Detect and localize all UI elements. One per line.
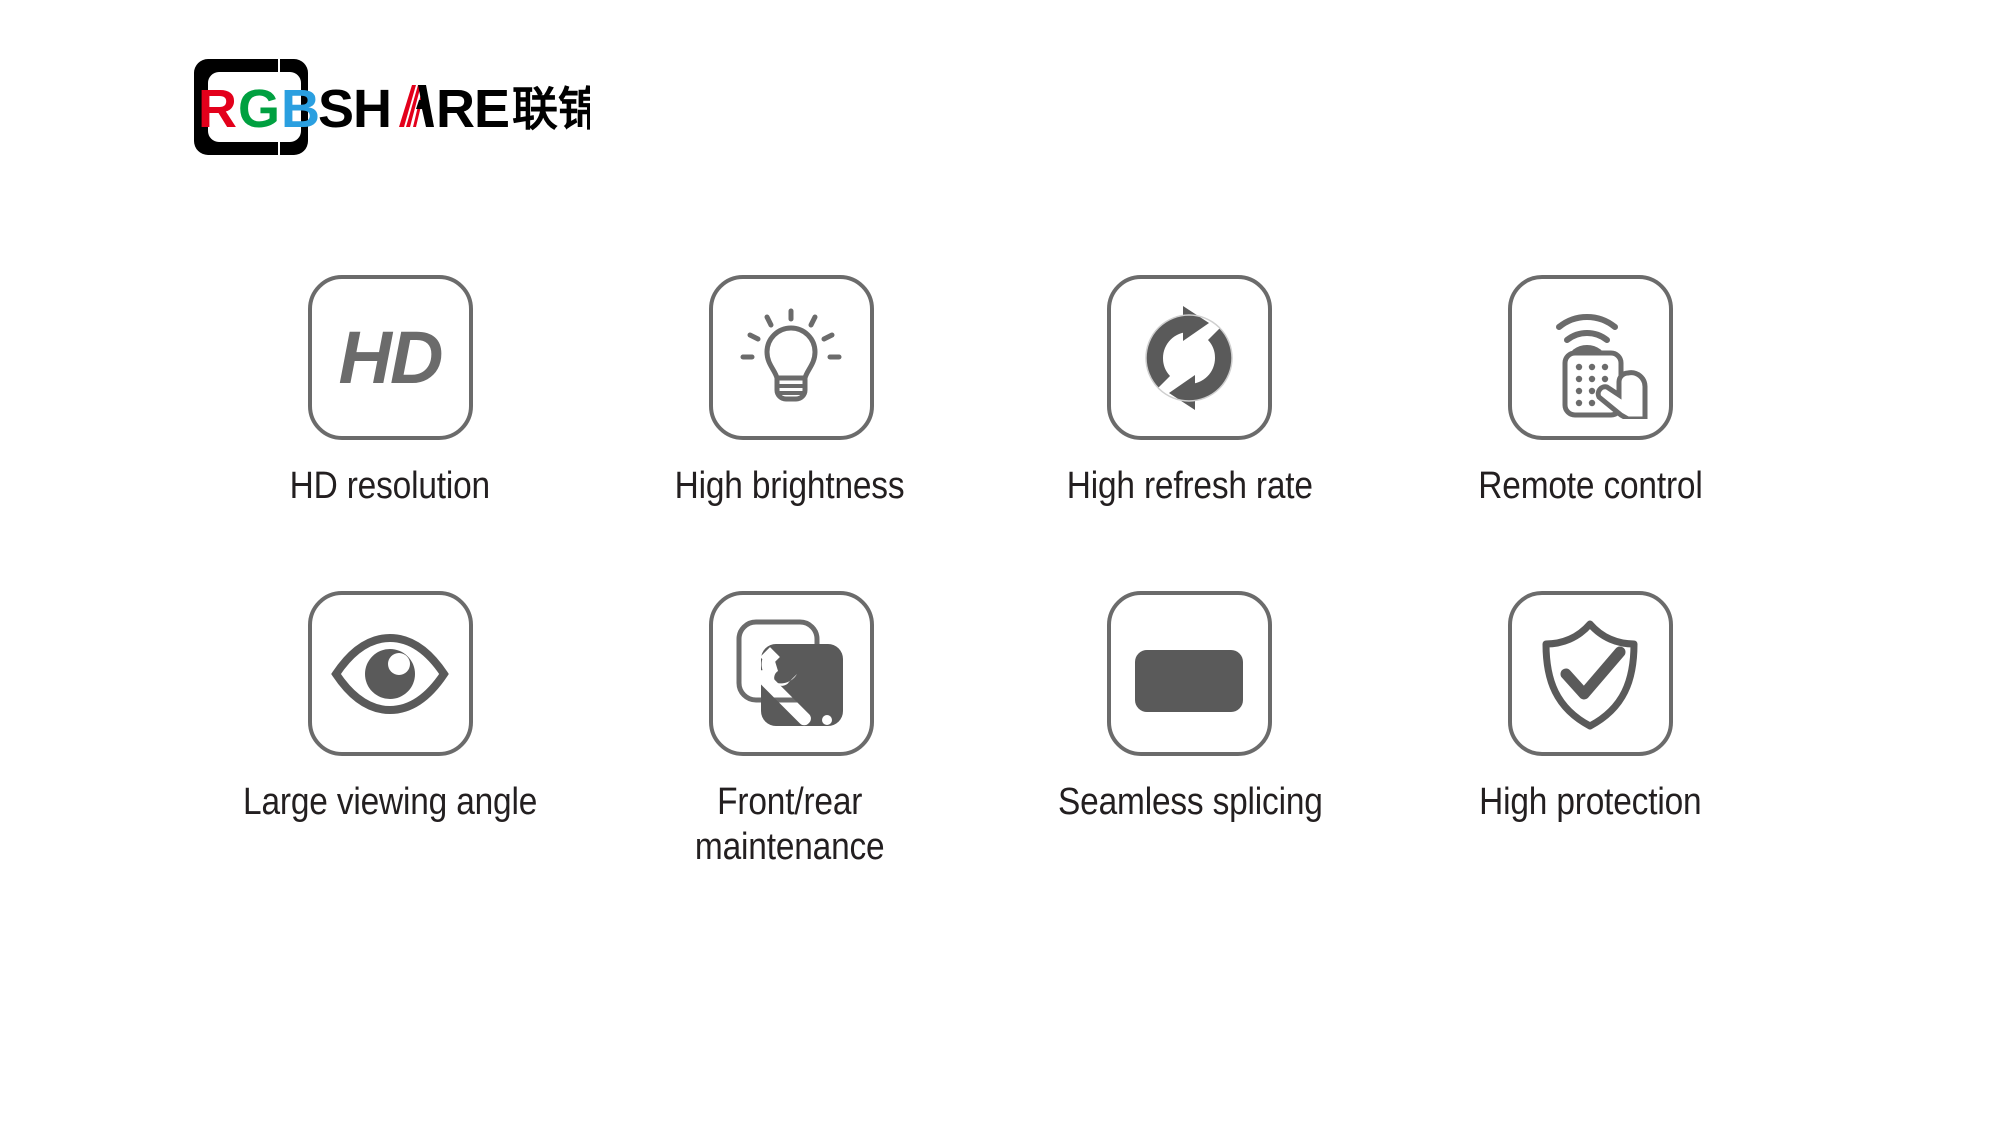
lightbulb-icon — [709, 275, 874, 440]
hd-icon-text: HD — [339, 321, 442, 395]
remote-control-icon — [1508, 275, 1673, 440]
logo-share-text: SH RE — [318, 79, 509, 139]
feature-item-seamless-splicing[interactable]: Seamless splicing — [990, 591, 1390, 870]
svg-text:R: R — [198, 79, 236, 139]
feature-item-remote-control[interactable]: Remote control — [1390, 275, 1790, 509]
brand-logo: R G B SH RE 联锦 — [190, 55, 590, 160]
feature-row: Large viewing angle — [190, 591, 1810, 870]
svg-text:RE: RE — [436, 79, 509, 139]
feature-label: High refresh rate — [1067, 464, 1313, 509]
svg-text:B: B — [281, 79, 319, 139]
hd-icon: HD — [308, 275, 473, 440]
refresh-icon — [1107, 275, 1272, 440]
feature-item-hd-resolution[interactable]: HD HD resolution — [190, 275, 590, 509]
feature-item-front-rear-maintenance[interactable]: Front/rear maintenance — [590, 591, 990, 870]
feature-label: Front/rear maintenance — [695, 780, 885, 870]
feature-label: High protection — [1479, 780, 1701, 825]
feature-item-high-refresh-rate[interactable]: High refresh rate — [990, 275, 1390, 509]
feature-grid: HD HD resolution — [190, 275, 1810, 870]
svg-text:G: G — [238, 79, 279, 139]
logo-rgb-text: R G B — [198, 79, 319, 139]
feature-label: High brightness — [675, 464, 905, 509]
wrench-panels-icon — [709, 591, 874, 756]
shield-check-icon — [1508, 591, 1673, 756]
logo-chinese-text: 联锦 — [512, 82, 590, 136]
feature-item-large-viewing-angle[interactable]: Large viewing angle — [190, 591, 590, 870]
svg-text:SH: SH — [318, 79, 391, 139]
feature-label: Remote control — [1478, 464, 1702, 509]
feature-item-high-brightness[interactable]: High brightness — [590, 275, 990, 509]
feature-label: Large viewing angle — [243, 780, 537, 825]
feature-row: HD HD resolution — [190, 275, 1810, 509]
panel-icon — [1107, 591, 1272, 756]
eye-icon — [308, 591, 473, 756]
feature-label: Seamless splicing — [1058, 780, 1323, 825]
feature-label: HD resolution — [290, 464, 490, 509]
feature-item-high-protection[interactable]: High protection — [1390, 591, 1790, 870]
